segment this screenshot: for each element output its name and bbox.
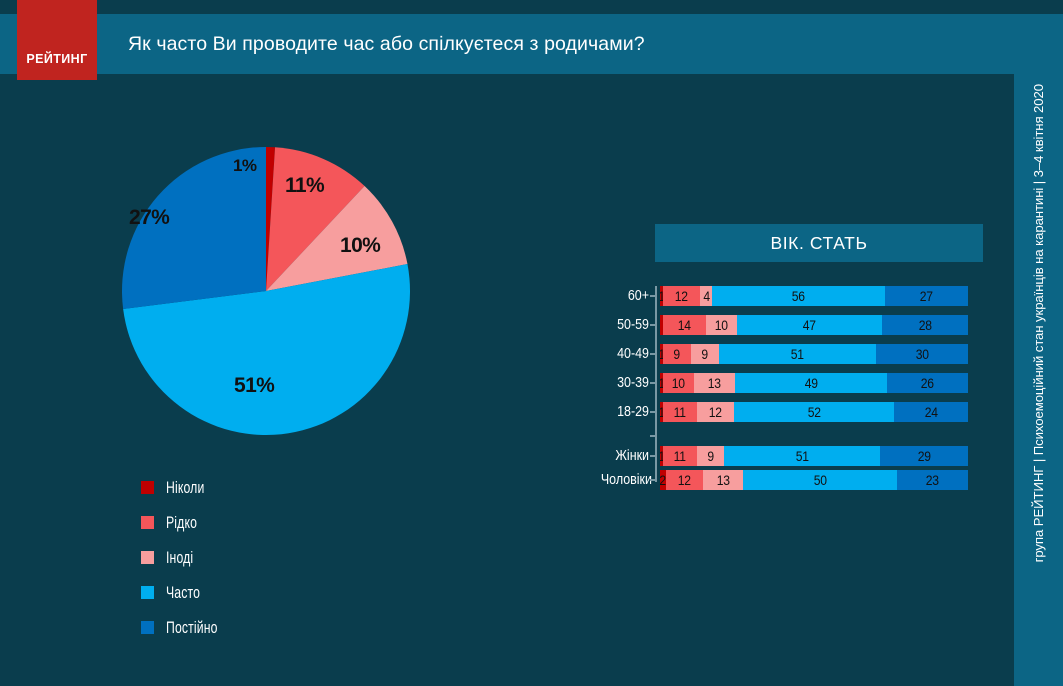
bar-segment: 51 — [719, 344, 876, 364]
bar-segment: 11 — [663, 402, 697, 422]
bar-segment: 47 — [737, 315, 882, 335]
bar-segment: 1 — [660, 286, 663, 306]
bar-segment: 14 — [663, 315, 706, 335]
axis-tick — [650, 295, 657, 297]
bar-segment-value: 27 — [920, 289, 933, 304]
bar-segment: 1 — [660, 373, 663, 393]
axis-tick — [650, 435, 657, 437]
pie-chart: 1% 11% 10% 51% 27% — [82, 146, 450, 436]
legend: НіколиРідкоІнодіЧастоПостійно — [141, 470, 238, 645]
bar-segment: 11 — [663, 446, 697, 466]
legend-swatch-icon — [141, 621, 154, 634]
bar-row: 18-29111125224 — [593, 402, 985, 422]
bar-segment-value: 13 — [708, 376, 721, 391]
bar-segment: 23 — [897, 470, 968, 490]
bar-segment-value: 12 — [675, 289, 688, 304]
bar-segment-value: 12 — [709, 405, 722, 420]
bar-segment: 12 — [697, 402, 734, 422]
bar-segment-value: 12 — [678, 473, 691, 488]
bar-segment: 4 — [700, 286, 712, 306]
bar-segment-value: 23 — [926, 473, 939, 488]
pie-label-rarely: 11% — [285, 174, 324, 198]
pie-label-never: 1% — [233, 156, 256, 176]
bar-track: 11195129 — [660, 446, 968, 466]
axis-tick — [650, 324, 657, 326]
legend-item[interactable]: Іноді — [141, 540, 238, 575]
bar-segment-value: 29 — [917, 449, 930, 464]
bar-segment: 13 — [703, 470, 743, 490]
bar-segment-value: 50 — [814, 473, 827, 488]
bar-row: 50-5914104728 — [593, 315, 985, 335]
bar-segment: 24 — [894, 402, 968, 422]
bar-segment-value: 11 — [674, 449, 686, 464]
bar-segment-value: 9 — [701, 347, 707, 362]
bar-segment: 27 — [885, 286, 968, 306]
axis-tick — [650, 382, 657, 384]
legend-item[interactable]: Постійно — [141, 610, 238, 645]
bar-segment-value: 49 — [804, 376, 817, 391]
bar-segment: 28 — [882, 315, 968, 335]
bar-segment: 12 — [663, 286, 700, 306]
bar-segment: 12 — [666, 470, 703, 490]
legend-item-label: Ніколи — [166, 478, 204, 498]
bar-segment: 10 — [706, 315, 737, 335]
bar-segment: 9 — [691, 344, 719, 364]
bar-row-label: 60+ — [601, 286, 649, 306]
bar-segment-value: 1 — [660, 376, 663, 391]
bar-row-label: Жінки — [601, 446, 649, 466]
bar-row: 30-39110134926 — [593, 373, 985, 393]
bar-segment-value: 47 — [803, 318, 816, 333]
pie-label-always: 27% — [129, 206, 169, 230]
bar-segment: 30 — [876, 344, 968, 364]
pie-label-sometimes: 10% — [340, 234, 380, 258]
legend-swatch-icon — [141, 551, 154, 564]
legend-swatch-icon — [141, 516, 154, 529]
bar-segment-value: 4 — [703, 289, 709, 304]
bar-segment: 56 — [712, 286, 884, 306]
bar-segment: 29 — [880, 446, 968, 466]
pie-label-often: 51% — [234, 374, 274, 398]
bar-segment: 9 — [697, 446, 724, 466]
bar-segment-value: 30 — [915, 347, 928, 362]
slide-root: Як часто Ви проводите час або спілкуєтес… — [0, 0, 1063, 686]
legend-item[interactable]: Часто — [141, 575, 238, 610]
bar-track: 212135023 — [660, 470, 968, 490]
axis-tick — [650, 455, 657, 457]
bar-segment-value: 28 — [918, 318, 931, 333]
bar-segment-value: 10 — [715, 318, 728, 333]
bar-segment-value: 13 — [717, 473, 730, 488]
bar-segment-value: 11 — [674, 405, 686, 420]
bar-row: 60+11245627 — [593, 286, 985, 306]
rating-logo — [17, 0, 97, 80]
bar-segment-value: 1 — [660, 449, 663, 464]
bar-segment-value: 1 — [660, 289, 663, 304]
bar-track: 111125224 — [660, 402, 968, 422]
bar-segment-value: 1 — [660, 347, 663, 362]
footer-credit-text: група РЕЙТИНГ | Психоемоційний стан укра… — [1014, 74, 1063, 686]
bar-segment: 1 — [660, 402, 663, 422]
bar-segment-value: 14 — [678, 318, 691, 333]
bar-row-label: Чоловіки — [601, 470, 649, 490]
bar-row: Чоловіки212135023 — [593, 470, 985, 490]
bar-segment-value: 56 — [792, 289, 805, 304]
legend-item-label: Рідко — [166, 513, 197, 533]
bar-segment: 13 — [694, 373, 734, 393]
bar-segment: 49 — [735, 373, 887, 393]
bar-segment-value: 10 — [672, 376, 685, 391]
bar-segment-value: 1 — [660, 405, 663, 420]
legend-item-label: Часто — [166, 583, 200, 603]
legend-item[interactable]: Рідко — [141, 505, 238, 540]
rating-logo-label: РЕЙТИНГ — [17, 52, 97, 66]
bar-segment-value: 2 — [660, 473, 666, 488]
bar-segment: 52 — [734, 402, 894, 422]
bar-segment-value: 24 — [925, 405, 938, 420]
bar-segment: 26 — [887, 373, 968, 393]
bar-segment: 10 — [663, 373, 694, 393]
bar-track: 14104728 — [660, 315, 968, 335]
legend-item[interactable]: Ніколи — [141, 470, 238, 505]
bar-segment: 9 — [663, 344, 691, 364]
bar-segment-value: 51 — [795, 449, 808, 464]
bar-segment-value: 51 — [791, 347, 804, 362]
bar-segment-value: 52 — [807, 405, 820, 420]
bar-row-label: 18-29 — [601, 402, 649, 422]
legend-swatch-icon — [141, 481, 154, 494]
axis-tick — [650, 411, 657, 413]
axis-tick — [650, 479, 657, 481]
bar-track: 1995130 — [660, 344, 968, 364]
bar-track: 110134926 — [660, 373, 968, 393]
bar-segment: 50 — [743, 470, 897, 490]
legend-item-label: Іноді — [166, 548, 193, 568]
bar-row: Жінки11195129 — [593, 446, 985, 466]
bar-segment: 1 — [660, 446, 663, 466]
bar-chart: 60+1124562750-591410472840-49199513030-3… — [593, 286, 985, 486]
page-title: Як часто Ви проводите час або спілкуєтес… — [128, 14, 988, 74]
bar-track: 11245627 — [660, 286, 968, 306]
bar-segment-value: 9 — [707, 449, 713, 464]
bar-segment: 1 — [660, 344, 663, 364]
axis-tick — [650, 353, 657, 355]
bar-row-label: 40-49 — [601, 344, 649, 364]
bar-row-label: 30-39 — [601, 373, 649, 393]
legend-swatch-icon — [141, 586, 154, 599]
legend-item-label: Постійно — [166, 618, 218, 638]
bar-segment: 2 — [660, 470, 666, 490]
bar-row: 40-491995130 — [593, 344, 985, 364]
bar-row-label: 50-59 — [601, 315, 649, 335]
bar-segment-value: 26 — [921, 376, 934, 391]
bar-segment: 51 — [724, 446, 880, 466]
bar-segment-value: 9 — [674, 347, 680, 362]
bar-panel-header: ВІК. СТАТЬ — [655, 224, 983, 262]
